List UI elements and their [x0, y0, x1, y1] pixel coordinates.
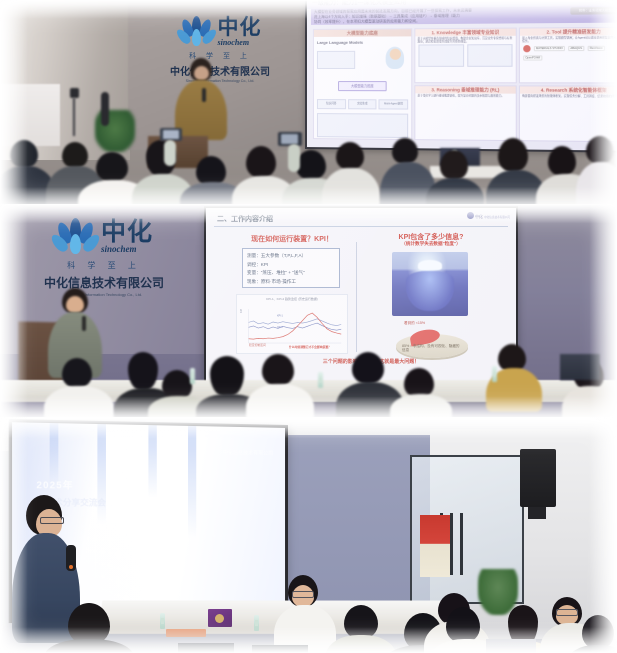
gift-box [208, 609, 232, 627]
llm-chip-1: 文档生成 [348, 99, 377, 109]
bottle-middle-3 [492, 366, 497, 382]
speaker-stand [101, 92, 109, 126]
chart-ylabel: KPI [240, 309, 243, 313]
photo-bottom: 2025年 技术分享交流会 中化信息技术有限公司 [0, 417, 617, 653]
tool-logo-3: OpenFOAM [523, 56, 542, 61]
bottle-bottom-2 [254, 615, 259, 631]
photo-middle: 中化 sinochem 科 学 至 上 中化信息技术有限公司 Sinochem … [0, 204, 617, 420]
research-title: Research [546, 88, 567, 93]
pie-label-body: 85%：非结构、没有可视化、隐藏的信息 [402, 344, 460, 353]
slide-corner-logo: 中化 中化信息技术有限公司 [467, 212, 510, 220]
llm-title: Large Language Models [317, 39, 408, 44]
tool-body: 接入专业仿真与计算工具，实现模型调用；让Agent可以直接调用研发软件完成计算任… [520, 35, 617, 44]
chair-back-1 [178, 643, 234, 653]
research-number: 4. [541, 87, 545, 92]
laptop-bottom-1 [486, 639, 536, 653]
knowledge-title: Knowledge [437, 30, 461, 35]
slide-left-heading: 现在如何运行装置？KPI！ [222, 234, 362, 244]
indoor-plant [478, 569, 518, 615]
presenter-glasses [40, 517, 64, 524]
tool-logo-mark [523, 45, 530, 52]
reasoning-subtitle: 垂域推理能力 (RL) [461, 87, 499, 92]
door-handle-bar-2 [450, 513, 453, 575]
backdrop-tagline: 科 学 至 上 [150, 51, 290, 61]
tool-subtitle: 提升精准研发能力 [563, 29, 601, 34]
reasoning-body: 基于强化学习进行垂域推理训练，提升复杂问题的多步推理与规划能力。 [415, 93, 515, 99]
knowledge-body: 基于大模型在垂直领域的知识增强，构建企业知识库，沉淀业务专家经验与标准规范；通过… [415, 36, 515, 45]
sinochem-backdrop-logo: 中化 sinochem 科 学 至 上 中化信息技术有限公司 Sinochem … [150, 16, 290, 83]
logo-english-name: sinochem [218, 38, 262, 48]
kpi-trend-chart: KPI-1、KPI-2 趋势监控 (历史运行数据) KPI KPI-1 KPI-… [236, 294, 348, 354]
llm-footnote: 基于大模型在垂直领域的知识增强，构建企业知识库，沉淀业务专家经验与标准规范；通过… [317, 139, 408, 140]
projection-screen-top: 一级能力：能力1—深化大模型应用 大模型在业务领域的探索应用是未来的前进发展方向… [305, 0, 617, 153]
backdrop-company-en-middle: Sinochem Information Technology Co., Ltd… [24, 292, 184, 297]
chart-caption: KPI-1、KPI-2 趋势监控 (历史运行数据) [237, 297, 347, 301]
param-row-1: 调控：KPI [247, 261, 335, 270]
iceberg-image [392, 252, 468, 316]
wall-speaker [520, 449, 556, 507]
slide-divider [214, 226, 508, 227]
knowledge-subtitle: 丰富领域专业知识 [462, 30, 499, 35]
chart-series-label-1: KPI-1 [277, 315, 283, 317]
slide-section-title: 二、工作内容介绍 [217, 214, 273, 224]
backdrop-company-cn-middle: 中化信息技术有限公司 [24, 274, 184, 291]
backdrop-company-cn: 中化信息技术有限公司 [150, 63, 290, 78]
slide-quadrant-reasoning: 3. Reasoning 垂域推理能力 (RL) 基于强化学习进行垂域推理训练，… [414, 85, 516, 141]
sinochem-flower-icon [179, 16, 213, 48]
screen-logo: 中化信息技术有限公司 [223, 449, 273, 457]
param-row-0: 测量：五大参数（T,P,L,F,A） [247, 252, 335, 261]
param-row-3: 现象：原料·市场·操作工 [247, 278, 335, 287]
tripod-leg [73, 98, 75, 136]
sinochem-backdrop-logo-middle: 中化 sinochem 科 学 至 上 中化信息技术有限公司 Sinochem … [24, 218, 184, 297]
llm-chip-2: Multi-Agent协同 [379, 99, 408, 109]
tool-logo-0: MATERIALS STUDIO [534, 46, 565, 51]
tool-logo-2: FlexVision [587, 46, 604, 51]
laptop-middle [560, 354, 600, 380]
wall-poster [420, 515, 450, 577]
corner-flower-icon [467, 212, 474, 219]
backdrop-company-en: Sinochem Information Technology Co., Ltd… [150, 79, 290, 83]
attendee-glasses-2 [556, 609, 578, 616]
slide-badge: 附件：业务领域大模型应用 [570, 7, 617, 15]
photo-top: 中化 sinochem 科 学 至 上 中化信息技术有限公司 Sinochem … [0, 0, 617, 210]
sinochem-flower-icon-middle [55, 218, 95, 256]
slide-vertical-divider [356, 242, 357, 352]
research-subtitle: 系统化智能体框架 [569, 88, 607, 93]
attendee-glasses-1 [292, 591, 314, 598]
corner-logo-cn: 中化 [475, 214, 483, 219]
iceberg-submerged [406, 271, 454, 311]
chart-annot-red: 什么时候调整它才不会影响装置？ [289, 346, 341, 349]
logo-chinese-name: 中化 [218, 17, 262, 38]
photo-collage: 中化 sinochem 科 学 至 上 中化信息技术有限公司 Sinochem … [0, 0, 617, 653]
backdrop-tagline-middle: 科 学 至 上 [24, 260, 184, 271]
bottle-bottom-1 [160, 613, 165, 629]
reasoning-number: 3. [431, 87, 435, 92]
chart-annot-blue: 稳定控制区间 [249, 343, 266, 347]
screen-title: 2025年 [36, 478, 73, 492]
tool-logo-1: ABAQUS [568, 46, 584, 51]
notebook-stack [166, 629, 206, 637]
slide-quadrant-tool: 2. Tool 提升精准研发能力 接入专业仿真与计算工具，实现模型调用；让Age… [519, 27, 617, 84]
pie-label-top: 看到的 <15% [404, 321, 425, 326]
chair-back-2 [252, 645, 308, 653]
door-handle-bar-3 [460, 513, 463, 575]
logo-chinese-name-middle: 中化 [101, 219, 153, 244]
camera-head [70, 88, 79, 98]
param-row-2: 变量："蒸压、堆拉" + "送气" [247, 269, 335, 278]
slide-quadrant-knowledge: 1. Knowledge 丰富领域专业知识 基于大模型在垂直领域的知识增强，构建… [414, 28, 516, 84]
tool-title: Tool [552, 29, 562, 34]
tool-number: 2. [547, 29, 551, 34]
screen-streak-4 [188, 426, 196, 538]
research-body: 构建面向研发场景的智能体框架，实现任务分解、工具调度、结果校验的闭环协同。 [520, 94, 617, 100]
screen-streak-3 [148, 425, 156, 497]
llm-cta-button[interactable]: 大模型能力底座 [338, 81, 387, 91]
reasoning-title: Reasoning [436, 87, 459, 92]
screen-streak-2 [97, 424, 106, 524]
corner-logo-sub: 中化信息技术有限公司 [484, 216, 510, 219]
slide-right-subheading: （统计数学失去数据"粒度"） [366, 241, 496, 247]
chart-series-label-2: KPI-2 [277, 327, 283, 329]
bottle-middle-2 [318, 372, 323, 388]
bottle-middle-1 [190, 368, 195, 384]
slide-quadrant-llm: 大模型能力底座 Large Language Models 大模型能力底座 知识… [313, 28, 412, 140]
whiteboard [0, 84, 60, 146]
knowledge-number: 1. [432, 30, 436, 35]
iceberg-tip [418, 260, 442, 270]
information-pie-chart: 看到的 <15% 85%：非结构、没有可视化、隐藏的信息 [390, 326, 474, 360]
llm-chip-0: 知识问答 [317, 99, 346, 109]
slide-quadrant-research: 4. Research 系统化智能体框架 构建面向研发场景的智能体框架，实现任务… [519, 85, 617, 142]
slide-parameter-box: 测量：五大参数（T,P,L,F,A） 调控：KPI 变量："蒸压、堆拉" + "… [242, 248, 340, 288]
screen-streak-1 [50, 423, 59, 486]
microphone-led [69, 565, 73, 569]
